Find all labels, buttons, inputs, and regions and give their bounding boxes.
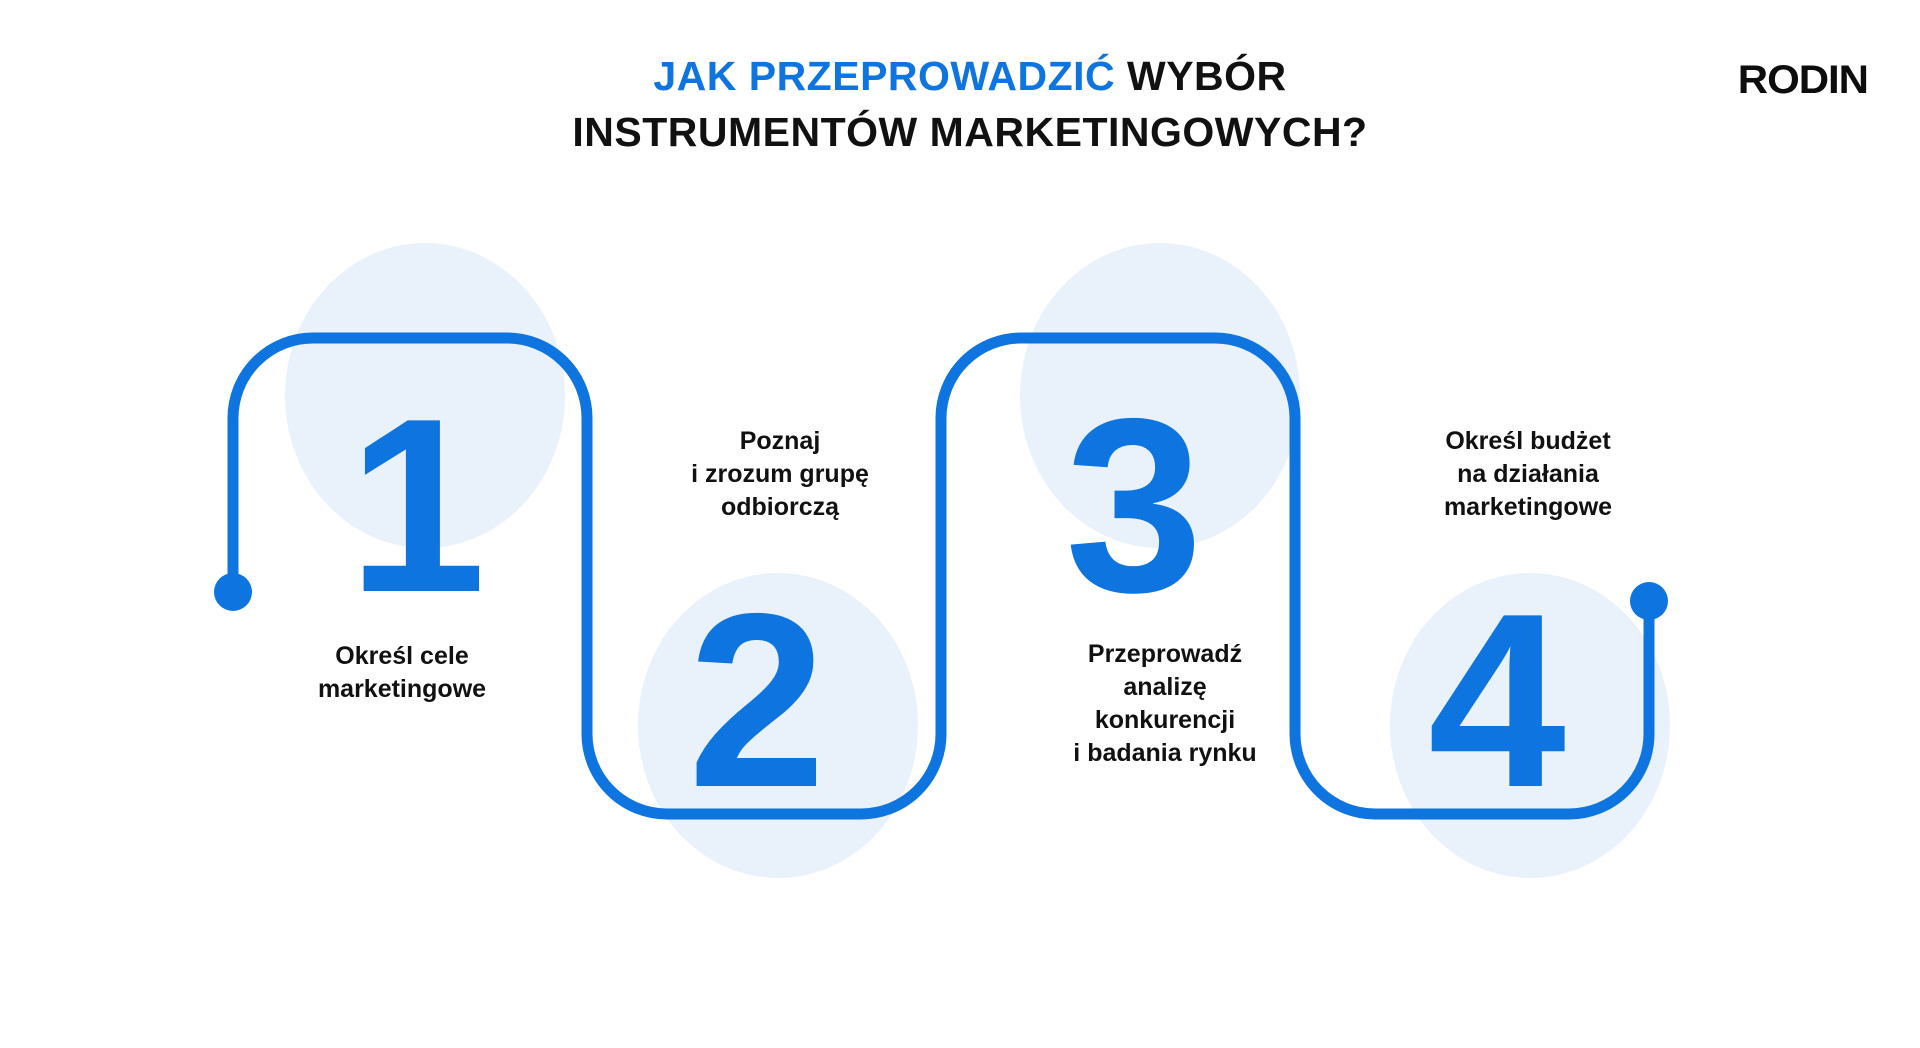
step-number-1: 1 <box>348 381 482 629</box>
connector-path-svg <box>0 0 1920 1048</box>
step-label-4: Określ budżet na działania marketingowe <box>1378 425 1678 524</box>
step-number-2: 2 <box>688 576 822 824</box>
path-end-dot <box>1630 582 1668 620</box>
infographic-canvas: JAK PRZEPROWADZIĆ WYBÓR INSTRUMENTÓW MAR… <box>0 0 1920 1048</box>
step-number-3: 3 <box>1065 381 1199 629</box>
path-start-dot <box>214 573 252 611</box>
step-number-4: 4 <box>1428 576 1562 824</box>
step-label-1: Określ cele marketingowe <box>252 640 552 706</box>
step-label-2: Poznaj i zrozum grupę odbiorczą <box>630 425 930 524</box>
process-diagram: 1 Określ cele marketingowe 2 Poznaj i zr… <box>0 0 1920 1048</box>
step-label-3: Przeprowadź analizę konkurencji i badani… <box>1015 638 1315 770</box>
